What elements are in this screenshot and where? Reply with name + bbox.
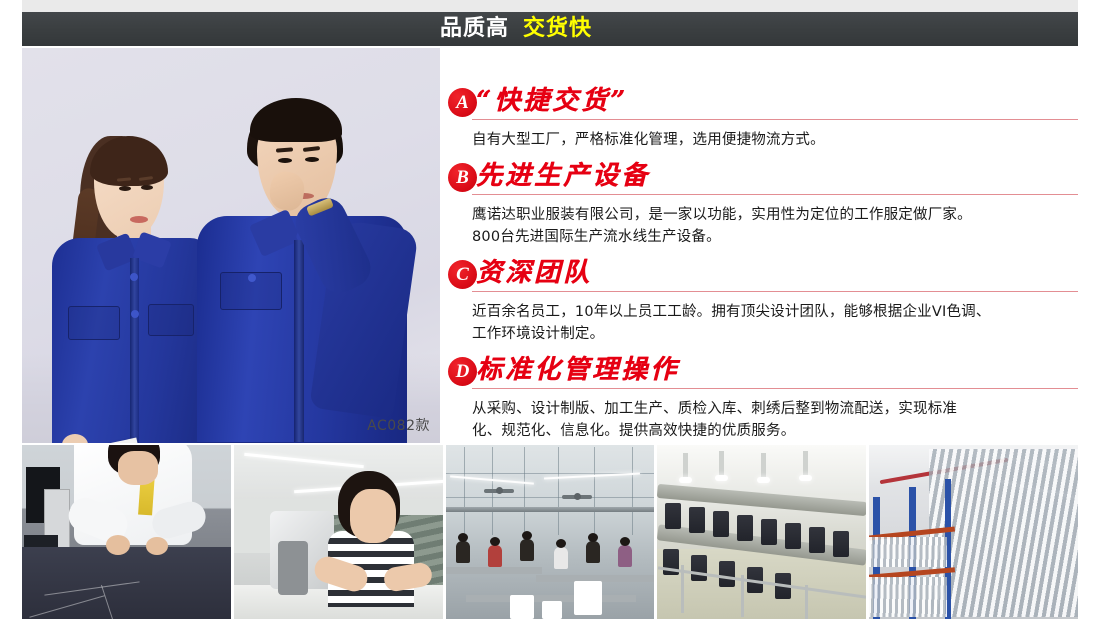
feature-a-body: 自有大型工厂，严格标准化管理，选用便捷物流方式。 xyxy=(472,124,1078,151)
thumb5-hanging-garments xyxy=(929,449,1078,617)
feature-d-body: 从采购、设计制版、加工生产、质检入库、刺绣后整到物流配送，实现标准 化、规范化、… xyxy=(472,393,1078,442)
feature-item-a: A “快捷交货” 自有大型工厂，严格标准化管理，选用便捷物流方式。 xyxy=(448,84,1078,151)
feature-item-b: B 先进生产设备 鹰诺达职业服装有限公司，是一家以功能，实用性为定位的工作服定做… xyxy=(448,159,1078,248)
feature-d-badge-icon: D xyxy=(448,357,477,386)
feature-b-header: B 先进生产设备 xyxy=(448,159,1078,199)
thumb4-lamp-head-1 xyxy=(679,477,692,483)
thumb4-garment-7 xyxy=(809,527,825,553)
thumb3-fan-hub-1 xyxy=(496,487,503,494)
thumb3-overhead-beam xyxy=(446,507,655,512)
feature-c-title: 资深团队 xyxy=(476,256,592,290)
female-eye-left xyxy=(119,186,131,191)
male-pocket-button xyxy=(248,274,256,282)
feature-c-header: C 资深团队 xyxy=(448,256,1078,296)
thumb3-worker-head-3 xyxy=(522,531,532,540)
male-hair-front xyxy=(250,98,342,142)
thumb3-window-mullion-5 xyxy=(594,447,595,535)
thumb3-white-garment-2 xyxy=(510,595,534,619)
feature-c-body: 近百余名员工，10年以上员工工龄。拥有顶尖设计团队，能够根据企业VI色调、 工作… xyxy=(472,296,1078,345)
feature-b-body-line-1: 鹰诺达职业服装有限公司，是一家以功能，实用性为定位的工作服定做厂家。 xyxy=(472,204,1078,226)
feature-c-divider xyxy=(472,291,1078,292)
male-jacket-hem xyxy=(197,442,407,443)
thumb4-garment-5 xyxy=(761,519,777,545)
thumb4-garment-4 xyxy=(737,515,753,541)
section-header-banner: 品质高 交货快 xyxy=(22,12,1078,46)
thumb2-sewing-machine-arm xyxy=(278,541,308,595)
thumb4-garment-11 xyxy=(719,561,735,587)
thumb1-worker-face xyxy=(118,451,158,485)
thumb4-garment-6 xyxy=(785,523,801,549)
thumb4-support-post-2 xyxy=(741,575,744,617)
thumb1-worker-hand-right xyxy=(146,537,168,555)
thumb4-garment-8 xyxy=(833,531,849,557)
feature-d-body-line-2: 化、规范化、信息化。提供高效快捷的优质服务。 xyxy=(472,420,1078,442)
feature-a-header: A “快捷交货” xyxy=(448,84,1078,124)
header-title-accent: 交货快 xyxy=(523,18,592,40)
thumb3-workbench-1 xyxy=(446,567,542,574)
thumb4-lamp-stem-3 xyxy=(761,453,766,479)
thumbnail-sewing-station[interactable] xyxy=(234,445,443,619)
thumb1-worker-hand-left xyxy=(106,535,130,555)
feature-list: A “快捷交货” 自有大型工厂，严格标准化管理，选用便捷物流方式。 B 先进生产… xyxy=(448,84,1078,442)
thumb4-lamp-stem-1 xyxy=(683,453,688,479)
thumb3-worker-5 xyxy=(586,541,600,563)
feature-b-badge-icon: B xyxy=(448,163,477,192)
feature-d-divider xyxy=(472,388,1078,389)
feature-b-divider xyxy=(472,194,1078,195)
female-lips xyxy=(130,216,148,223)
thumb3-worker-4 xyxy=(554,547,568,569)
thumb3-white-garment-1 xyxy=(574,581,602,615)
feature-a-badge-icon: A xyxy=(448,88,477,117)
feature-item-d: D 标准化管理操作 从采购、设计制版、加工生产、质检入库、刺绣后整到物流配送，实… xyxy=(448,353,1078,442)
product-code-label: AC082款 xyxy=(367,415,430,435)
feature-b-body-line-2: 800台先进国际生产流水线生产设备。 xyxy=(472,226,1078,248)
thumb5-packed-bags-2 xyxy=(869,577,947,617)
thumb5-packed-bags-1 xyxy=(869,537,947,567)
thumbnail-production-floor[interactable] xyxy=(446,445,655,619)
feature-a-body-line-1: 自有大型工厂，严格标准化管理，选用便捷物流方式。 xyxy=(472,129,1078,151)
thumb4-garment-3 xyxy=(713,511,729,537)
feature-d-body-line-1: 从采购、设计制版、加工生产、质检入库、刺绣后整到物流配送，实现标准 xyxy=(472,398,1078,420)
thumb2-worker-face xyxy=(350,489,396,543)
factory-photo-strip xyxy=(22,445,1078,619)
thumb3-window-mullion-6 xyxy=(632,447,633,535)
thumb3-worker-head-4 xyxy=(556,539,566,548)
feature-a-divider xyxy=(472,119,1078,120)
thumb4-garment-10 xyxy=(691,555,707,581)
thumb4-garment-1 xyxy=(665,503,681,529)
top-spacer-strip xyxy=(22,0,1078,12)
thumb2-ceiling xyxy=(234,445,443,499)
thumb3-window-rail-2 xyxy=(446,497,655,498)
male-eye-right xyxy=(305,157,319,162)
thumb3-white-garment-3 xyxy=(542,601,562,619)
thumb3-fan-hub-2 xyxy=(574,493,581,500)
header-title-primary: 品质高 xyxy=(440,18,509,40)
thumb4-lamp-stem-2 xyxy=(719,451,724,477)
thumb4-lamp-head-3 xyxy=(757,477,770,483)
thumbnail-cutting-room[interactable] xyxy=(22,445,231,619)
thumb4-support-post-3 xyxy=(805,585,808,619)
female-jacket-button-2 xyxy=(131,310,139,318)
thumb4-lamp-head-4 xyxy=(799,475,812,481)
thumbnail-conveyor-line[interactable] xyxy=(657,445,866,619)
thumb4-garment-2 xyxy=(689,507,705,533)
thumb3-window-mullion-3 xyxy=(524,447,525,535)
feature-c-badge-icon: C xyxy=(448,260,477,289)
male-jacket-placket xyxy=(294,240,304,443)
feature-d-header: D 标准化管理操作 xyxy=(448,353,1078,393)
male-eye-left xyxy=(278,158,292,163)
thumb4-support-post-1 xyxy=(681,565,684,613)
female-jacket-placket xyxy=(130,258,139,443)
thumb3-worker-1 xyxy=(456,541,470,563)
thumb3-worker-2 xyxy=(488,545,502,567)
thumb3-background xyxy=(446,445,655,619)
feature-c-body-line-1: 近百余名员工，10年以上员工工龄。拥有顶尖设计团队，能够根据企业VI色调、 xyxy=(472,301,1078,323)
female-jacket-button-1 xyxy=(130,273,138,281)
thumb3-worker-3 xyxy=(520,539,534,561)
thumb4-lamp-stem-4 xyxy=(803,451,808,477)
thumb3-worker-6 xyxy=(618,545,632,567)
hero-product-photo[interactable]: AC082款 xyxy=(22,48,440,443)
feature-d-title: 标准化管理操作 xyxy=(476,353,679,387)
feature-b-body: 鹰诺达职业服装有限公司，是一家以功能，实用性为定位的工作服定做厂家。 800台先… xyxy=(472,199,1078,248)
thumb3-worker-head-6 xyxy=(620,537,630,546)
thumb3-worker-head-1 xyxy=(458,533,468,542)
thumb3-worker-head-5 xyxy=(588,533,598,542)
product-detail-page: 品质高 交货快 xyxy=(0,0,1100,619)
female-chest-pocket-right xyxy=(148,304,194,336)
thumb4-lamp-head-2 xyxy=(715,475,728,481)
feature-b-title: 先进生产设备 xyxy=(476,159,650,193)
feature-c-body-line-2: 工作环境设计制定。 xyxy=(472,323,1078,345)
female-eye-right xyxy=(141,185,153,190)
female-chest-pocket-left xyxy=(68,306,120,340)
feature-a-title: “快捷交货” xyxy=(476,84,628,118)
feature-item-c: C 资深团队 近百余名员工，10年以上员工工龄。拥有顶尖设计团队，能够根据企业V… xyxy=(448,256,1078,345)
thumb3-window-mullion-1 xyxy=(464,447,465,535)
thumb3-worker-head-2 xyxy=(490,537,500,546)
thumb3-window-mullion-4 xyxy=(558,447,559,535)
thumbnail-finished-goods-warehouse[interactable] xyxy=(869,445,1078,619)
